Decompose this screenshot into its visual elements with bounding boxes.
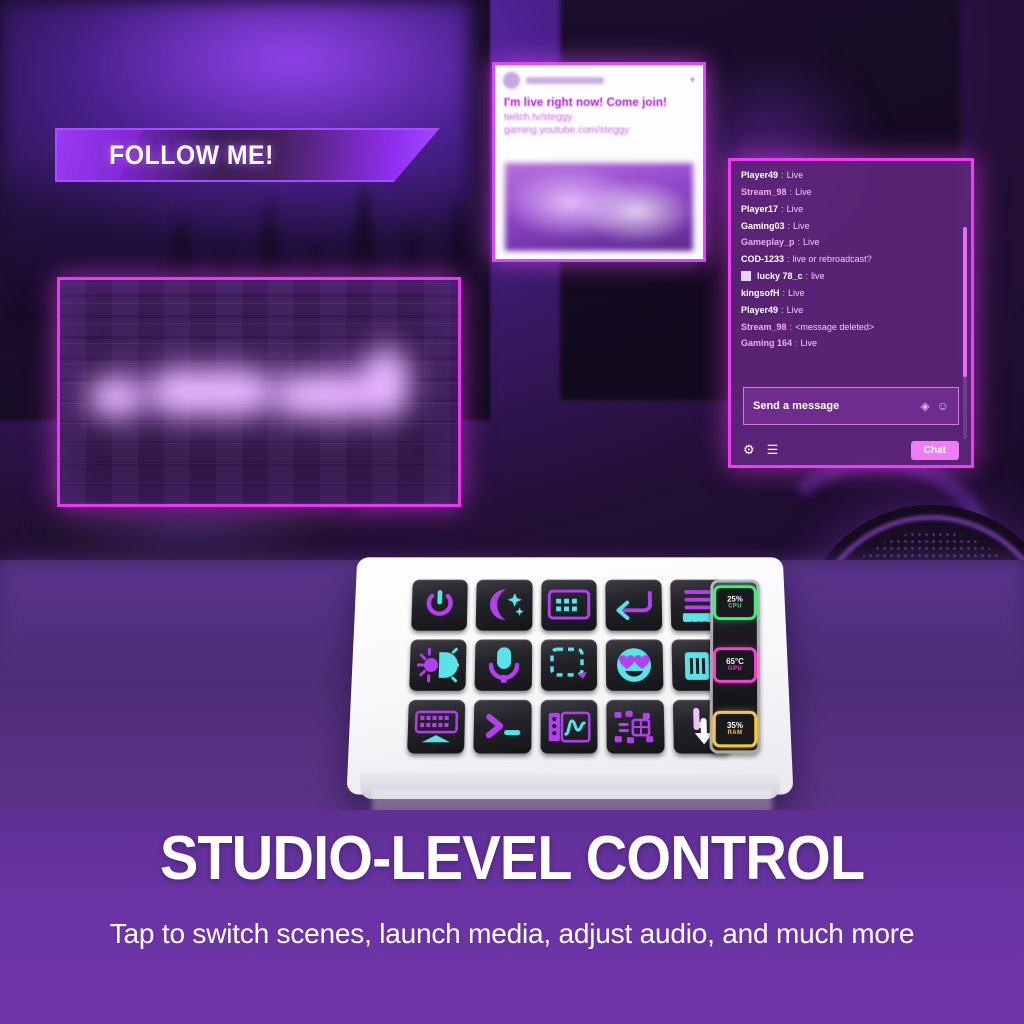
chat-separator: : [806,271,809,281]
chat-text: Live [801,338,818,348]
follow-me-label: FOLLOW ME! [109,140,274,171]
chat-message: Gameplay_p:Live [741,237,961,247]
chat-username[interactable]: Gaming03 [741,221,785,231]
chat-text: Live [788,288,805,298]
chat-input-placeholder: Send a message [753,400,839,412]
neon-sign-display [57,277,461,507]
social-post-card[interactable]: ▾ I'm live right now! Come join! twitch.… [492,62,706,262]
screenshot-crop-icon [548,646,590,684]
macropad-key-moon-sparkle[interactable] [476,580,532,631]
chat-username[interactable]: lucky 78_c [757,271,803,281]
stat-tile-gpu[interactable]: 65°CGPU [716,650,754,680]
chat-username[interactable]: kingsofH [741,288,780,298]
list-icon[interactable]: ☰ [767,442,779,458]
stat-label: RAM [727,730,742,736]
grid-panel-icon [547,589,591,622]
macropad-key-microphone[interactable] [475,639,532,691]
microphone-icon [485,645,522,685]
stat-value: 65°C [726,658,744,666]
chat-username[interactable]: Gaming 164 [741,338,792,348]
brightness-icon [417,646,460,684]
chat-text: live [811,271,825,281]
chat-separator: : [790,322,793,332]
keyboard-icon [413,709,461,745]
macropad-key-screenshot-crop[interactable] [541,639,598,691]
chat-separator: : [781,305,784,315]
bits-icon[interactable]: ◈ [921,399,930,413]
gear-icon[interactable]: ⚙ [743,442,755,458]
macropad-key-power[interactable] [411,580,468,631]
chat-separator: : [787,254,790,264]
chat-separator: : [783,288,786,298]
page-title: STUDIO-LEVEL CONTROL [36,823,988,894]
stream-chat-panel[interactable]: Player49:LiveStream_98:LivePlayer17:Live… [728,158,974,468]
chat-separator: : [795,338,798,348]
chat-message: lucky 78_c:live [741,271,961,281]
macropad-key-brightness[interactable] [409,639,467,691]
chat-username[interactable]: Stream_98 [741,187,787,197]
stat-tile-ram[interactable]: 35%RAM [716,714,755,744]
stat-label: CPU [728,604,742,610]
macropad-key-terminal-prompt[interactable] [474,700,532,753]
chat-username[interactable]: Player49 [741,170,778,180]
chat-username[interactable]: Stream_98 [741,322,787,332]
chat-input-icons: ◈ ☺ [921,399,950,413]
macropad-key-grid-panel[interactable] [541,580,597,631]
enter-arrow-icon [613,589,655,622]
chat-text: Live [803,237,820,247]
chat-text: Live [795,187,812,197]
chat-separator: : [798,237,801,247]
macropad-key-enter-arrow[interactable] [606,580,662,631]
heart-eyes-emoji-icon [614,646,655,684]
chat-separator: : [781,170,784,180]
chevron-down-icon[interactable]: ▾ [690,75,695,86]
chat-text: Live [787,170,804,180]
chat-username[interactable]: COD-1233 [741,254,784,264]
emote-icon[interactable]: ☺ [937,399,949,413]
follow-me-banner[interactable]: FOLLOW ME! [55,128,440,182]
post-link-youtube[interactable]: gaming.youtube.com/steggy [495,124,703,137]
post-username [526,77,604,84]
chat-text: Live [787,204,804,214]
power-icon [419,586,460,625]
macropad-key-app-grid[interactable] [606,700,664,753]
chat-message-list: Player49:LiveStream_98:LivePlayer17:Live… [731,161,971,353]
macropad-key-waveform-monitor[interactable] [540,700,597,753]
macropad-key-grid: COD [407,580,731,754]
app-grid-icon [613,710,658,744]
chat-text: <message deleted> [795,322,874,332]
chat-scrollbar-thumb[interactable] [963,227,967,377]
avatar [503,72,520,89]
chat-message: Stream_98:Live [741,187,961,197]
chat-separator: : [781,204,784,214]
chat-text: live or rebroadcast? [793,254,872,264]
stat-value: 35% [727,722,743,730]
chat-toolbar: ⚙ ☰ Chat [743,437,959,463]
chat-message: Player17:Live [741,204,961,214]
chat-username[interactable]: Player17 [741,204,778,214]
terminal-prompt-icon [481,712,524,742]
chat-input[interactable]: Send a message ◈ ☺ [743,387,959,425]
chat-message: Player49:Live [741,305,961,315]
macropad-key-heart-eyes-emoji[interactable] [606,639,663,691]
chat-text: Live [787,305,804,315]
chat-message: Gaming03:Live [741,221,961,231]
waveform-monitor-icon [547,710,592,744]
chat-separator: : [788,221,791,231]
post-link-twitch[interactable]: twitch.tv/steggy [495,111,703,124]
stat-label: GPU [728,666,742,672]
chat-text: Live [793,221,810,231]
stat-tile-cpu[interactable]: 25%CPU [716,588,754,617]
chat-badge-icon [741,271,751,281]
post-media-thumbnail[interactable] [505,163,693,251]
neon-sign-glow [90,352,420,432]
post-message: I'm live right now! Come join! [495,91,703,111]
stat-value: 25% [727,596,743,604]
macropad-device[interactable]: COD 25%CPU65°CGPU35%RAM [352,553,788,793]
chat-separator: : [790,187,793,197]
chat-username[interactable]: Player49 [741,305,778,315]
macropad-key-keyboard[interactable] [407,700,466,753]
chat-username[interactable]: Gameplay_p [741,237,795,247]
chat-send-button[interactable]: Chat [911,441,959,460]
chat-message: COD-1233:live or rebroadcast? [741,254,961,264]
moon-sparkle-icon [483,586,525,625]
chat-message: Stream_98:<message deleted> [741,322,961,332]
page-subtitle: Tap to switch scenes, launch media, adju… [0,918,1024,950]
chat-message: Player49:Live [741,170,961,180]
chat-message: Gaming 164:Live [741,338,961,348]
macropad-stat-strip[interactable]: 25%CPU65°CGPU35%RAM [710,580,761,754]
chat-message: kingsofH:Live [741,288,961,298]
post-header: ▾ [495,65,703,91]
